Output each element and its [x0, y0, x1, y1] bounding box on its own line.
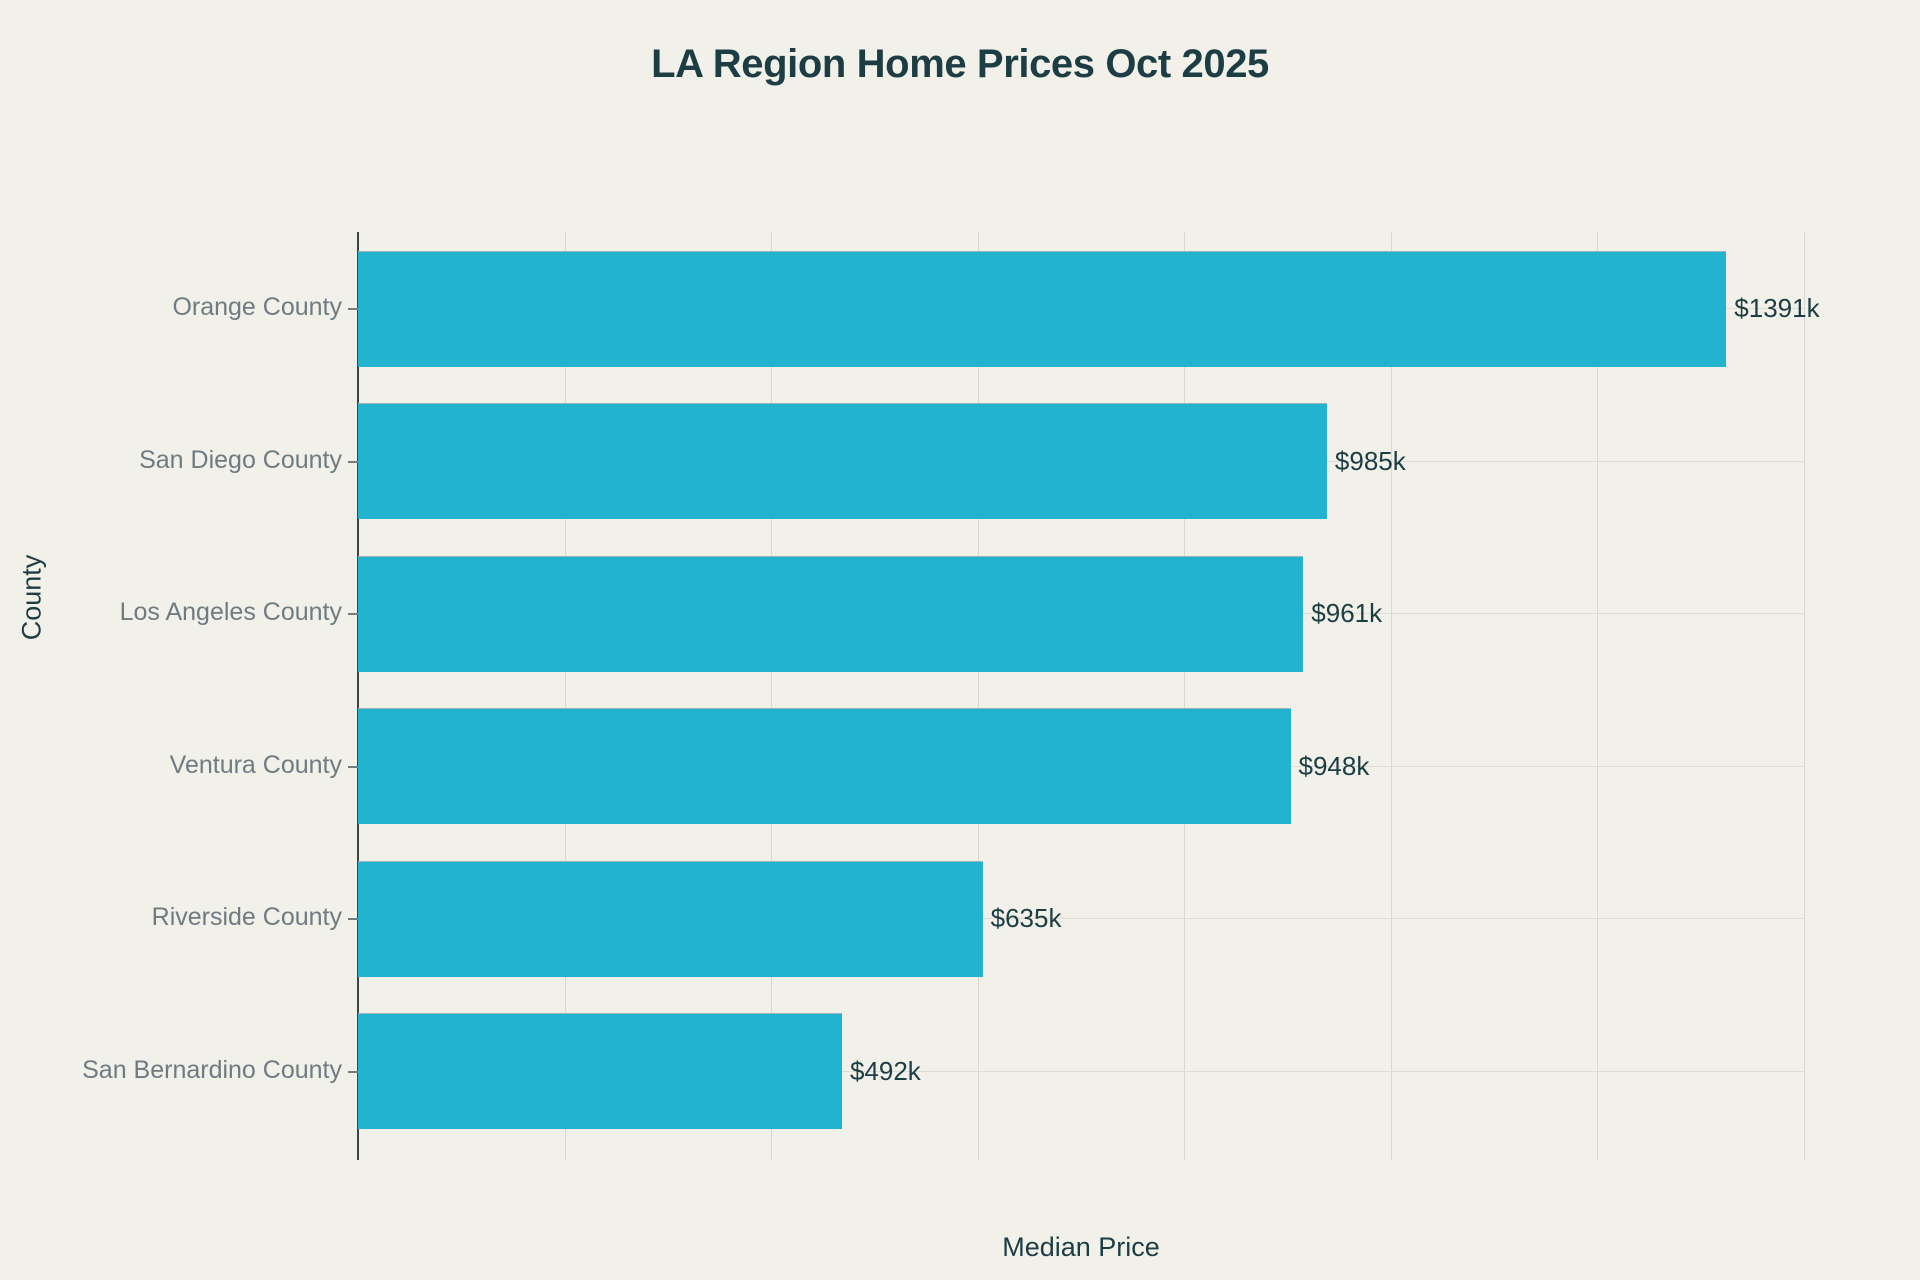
bar-value-label: $1391k	[1734, 295, 1819, 321]
chart-title: LA Region Home Prices Oct 2025	[0, 42, 1920, 87]
y-tick-mark	[348, 308, 358, 310]
bar-value-label: $985k	[1335, 448, 1406, 474]
y-tick-mark	[348, 766, 358, 768]
bar[interactable]	[358, 556, 1303, 672]
gridline-vertical	[1804, 232, 1805, 1160]
y-tick-label: Orange County	[172, 295, 342, 320]
y-tick-mark	[348, 461, 358, 463]
plot-area: $1391k$985k$961k$948k$635k$492k	[358, 232, 1804, 1147]
bar-row	[358, 403, 1804, 518]
bar-row	[358, 1013, 1804, 1128]
y-tick-label: San Bernardino County	[82, 1058, 342, 1083]
y-tick-mark	[348, 1071, 358, 1073]
bar[interactable]	[358, 708, 1291, 824]
bar[interactable]	[358, 861, 983, 977]
y-tick-label: Ventura County	[170, 753, 342, 778]
bar[interactable]	[358, 251, 1726, 367]
bar-value-label: $948k	[1299, 753, 1370, 779]
bar-row	[358, 251, 1804, 366]
bar-row	[358, 861, 1804, 976]
bar[interactable]	[358, 1013, 842, 1129]
bar-value-label: $635k	[991, 905, 1062, 931]
y-tick-label: San Diego County	[139, 448, 342, 473]
y-tick-mark	[348, 613, 358, 615]
bar-row	[358, 556, 1804, 671]
bar[interactable]	[358, 403, 1327, 519]
y-tick-label: Riverside County	[152, 905, 342, 930]
bar-row	[358, 708, 1804, 823]
x-axis-title: Median Price	[358, 1232, 1804, 1263]
bar-value-label: $961k	[1311, 600, 1382, 626]
y-tick-mark	[348, 918, 358, 920]
bar-chart: LA Region Home Prices Oct 2025 County Me…	[0, 0, 1920, 1280]
y-axis-title: County	[17, 518, 48, 678]
y-tick-label: Los Angeles County	[120, 600, 342, 625]
bar-value-label: $492k	[850, 1058, 921, 1084]
